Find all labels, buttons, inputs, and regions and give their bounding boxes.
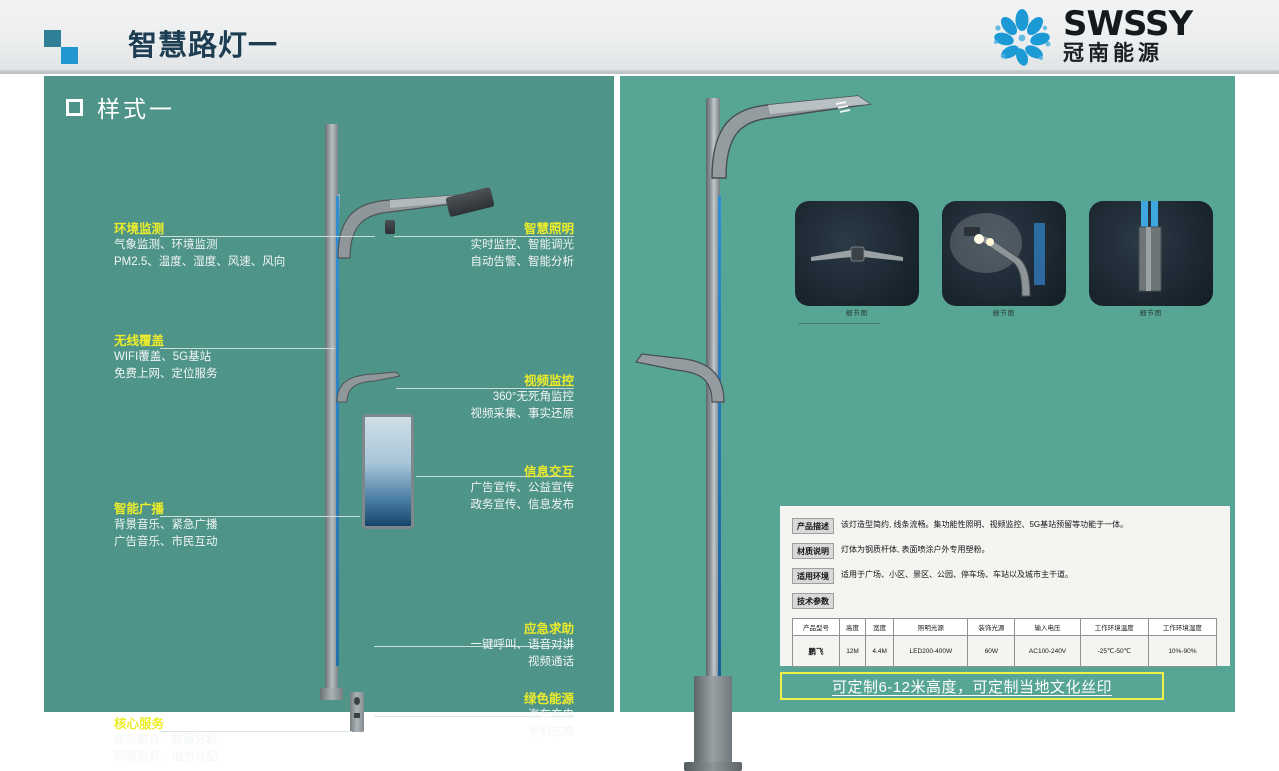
table-cell: AC100-240V	[1015, 636, 1080, 667]
callout-heading: 信息交互	[374, 464, 574, 480]
table-header-cell: 装饰光源	[968, 619, 1015, 636]
callout-heading: 智能广播	[114, 501, 218, 517]
left-diagram-panel: 样式一	[44, 76, 614, 712]
table-header-cell: 宽度	[866, 619, 894, 636]
callout-heading: 无线覆盖	[114, 333, 218, 349]
callout-heading: 绿色能源	[374, 691, 574, 707]
callout-line: 网络服务、电力分配	[114, 749, 218, 766]
table-cell: 12M	[840, 636, 866, 667]
callout-line: 自动告警、智能分析	[374, 254, 574, 271]
table-header-cell: 工作环境湿度	[1148, 619, 1216, 636]
callout-line: 气象监测、环境监测	[114, 237, 285, 254]
callout-line: 视频采集、事实还原	[374, 406, 574, 423]
brand-logo: SWSSY 冠南能源	[989, 6, 1259, 68]
detail-photo-caption: 细节图	[1089, 307, 1213, 317]
callout-line: 广告音乐、市民互动	[114, 534, 218, 551]
detail-photo	[795, 201, 919, 306]
callout-line: 实时监控、智能调光	[374, 237, 574, 254]
customization-banner: 可定制6-12米高度，可定制当地文化丝印	[780, 672, 1164, 700]
spec-tag: 产品描述	[792, 518, 834, 534]
brand-name: SWSSY	[1063, 6, 1192, 42]
table-header-cell: 输入电压	[1015, 619, 1080, 636]
table-cell: 60W	[968, 636, 1015, 667]
product-lamp-arm-upper	[708, 90, 878, 180]
callout-heading: 应急求助	[374, 621, 574, 637]
spec-row: 材质说明 灯体为钢质杆体, 表面喷涂户外专用塑粉。	[792, 543, 1230, 559]
callout-heading: 核心服务	[114, 716, 218, 732]
spec-value: 灯体为钢质杆体, 表面喷涂户外专用塑粉。	[841, 543, 989, 556]
header-divider	[0, 70, 1279, 74]
table-cell: -25℃-50℃	[1080, 636, 1148, 667]
table-cell: LED200-400W	[894, 636, 968, 667]
callout-line: PM2.5、温度、湿度、风速、风向	[114, 254, 285, 271]
table-header-cell: 产品型号	[793, 619, 840, 636]
product-lamp-arm-lower	[632, 346, 727, 404]
table-cell: 10%-90%	[1148, 636, 1216, 667]
callout-line: 汽车充电	[374, 707, 574, 724]
callout-information-interaction: 信息交互 广告宣传、公益宣传 政务宣传、信息发布	[374, 464, 574, 514]
customization-banner-text: 可定制6-12米高度，可定制当地文化丝印	[832, 676, 1112, 697]
callout-core-services: 核心服务 业务整合、数据分析 网络服务、电力分配	[114, 716, 218, 766]
slide-header: 智慧路灯一	[0, 0, 1279, 74]
right-product-panel: 细节图 细节图 细节图 产品描述 该灯造型简约, 线条流畅。集功能性照明、视频监…	[620, 76, 1235, 712]
spec-row-table-label: 技术参数	[792, 593, 1230, 609]
technical-parameters-table: 产品型号 高度 宽度 照明光源 装饰光源 输入电压 工作环境温度 工作环境湿度 …	[792, 618, 1217, 667]
spec-tag: 技术参数	[792, 593, 834, 609]
callout-line: 广告宣传、公益宣传	[374, 480, 574, 497]
detail-photo	[942, 201, 1066, 306]
callout-wireless-coverage: 无线覆盖 WIFI覆盖、5G基站 免费上网、定位服务	[114, 333, 218, 383]
detail-photo-caption: 细节图	[795, 307, 919, 317]
callout-line: WIFI覆盖、5G基站	[114, 349, 218, 366]
page-title: 智慧路灯一	[128, 22, 278, 64]
spec-tag: 材质说明	[792, 543, 834, 559]
callout-environment-monitoring: 环境监测 气象监测、环境监测 PM2.5、温度、湿度、风速、风向	[114, 221, 285, 271]
spec-value: 该灯造型简约, 线条流畅。集功能性照明、视频监控、5G基站预留等功能于一体。	[841, 518, 1128, 531]
spec-value: 适用于广场、小区、景区、公园、停车场、车站以及城市主干道。	[841, 568, 1073, 581]
callout-line: 业务整合、数据分析	[114, 732, 218, 749]
specification-card: 产品描述 该灯造型简约, 线条流畅。集功能性照明、视频监控、5G基站预留等功能于…	[780, 506, 1230, 666]
callout-line: 背景音乐、紧急广播	[114, 517, 218, 534]
callout-line: 手机充电	[374, 724, 574, 741]
callout-smart-lighting: 智慧照明 实时监控、智能调光 自动告警、智能分析	[374, 221, 574, 271]
table-header-cell: 高度	[840, 619, 866, 636]
spec-tag: 适用环境	[792, 568, 834, 584]
brand-subtitle: 冠南能源	[1063, 42, 1192, 66]
callout-video-surveillance: 视频监控 360°无死角监控 视频采集、事实还原	[374, 373, 574, 423]
callout-line: 360°无死角监控	[374, 389, 574, 406]
callout-heading: 环境监测	[114, 221, 285, 237]
slide-root: 智慧路灯一	[0, 0, 1279, 720]
table-row: 鹏飞 12M 4.4M LED200-400W 60W AC100-240V -…	[793, 636, 1217, 667]
callout-line: 政务宣传、信息发布	[374, 497, 574, 514]
callout-heading: 智慧照明	[374, 221, 574, 237]
detail-photo-caption: 细节图	[942, 307, 1066, 317]
detail-photo	[1089, 201, 1213, 306]
table-header-cell: 照明光源	[894, 619, 968, 636]
callout-green-energy: 绿色能源 汽车充电 手机充电	[374, 691, 574, 741]
table-cell: 4.4M	[866, 636, 894, 667]
flower-droplet-icon	[989, 8, 1055, 66]
callout-line: 一键呼叫、语音对讲	[374, 637, 574, 654]
callout-line: 视频通话	[374, 654, 574, 671]
spec-row: 适用环境 适用于广场、小区、景区、公园、停车场、车站以及城市主干道。	[792, 568, 1230, 584]
table-cell: 鹏飞	[793, 636, 840, 667]
callout-line: 免费上网、定位服务	[114, 366, 218, 383]
table-header-cell: 工作环境温度	[1080, 619, 1148, 636]
table-header-row: 产品型号 高度 宽度 照明光源 装饰光源 输入电压 工作环境温度 工作环境湿度	[793, 619, 1217, 636]
title-decoration-squares	[44, 30, 86, 64]
callout-heading: 视频监控	[374, 373, 574, 389]
spec-row: 产品描述 该灯造型简约, 线条流畅。集功能性照明、视频监控、5G基站预留等功能于…	[792, 518, 1230, 534]
callout-emergency-help: 应急求助 一键呼叫、语音对讲 视频通话	[374, 621, 574, 671]
callout-smart-broadcast: 智能广播 背景音乐、紧急广播 广告音乐、市民互动	[114, 501, 218, 551]
